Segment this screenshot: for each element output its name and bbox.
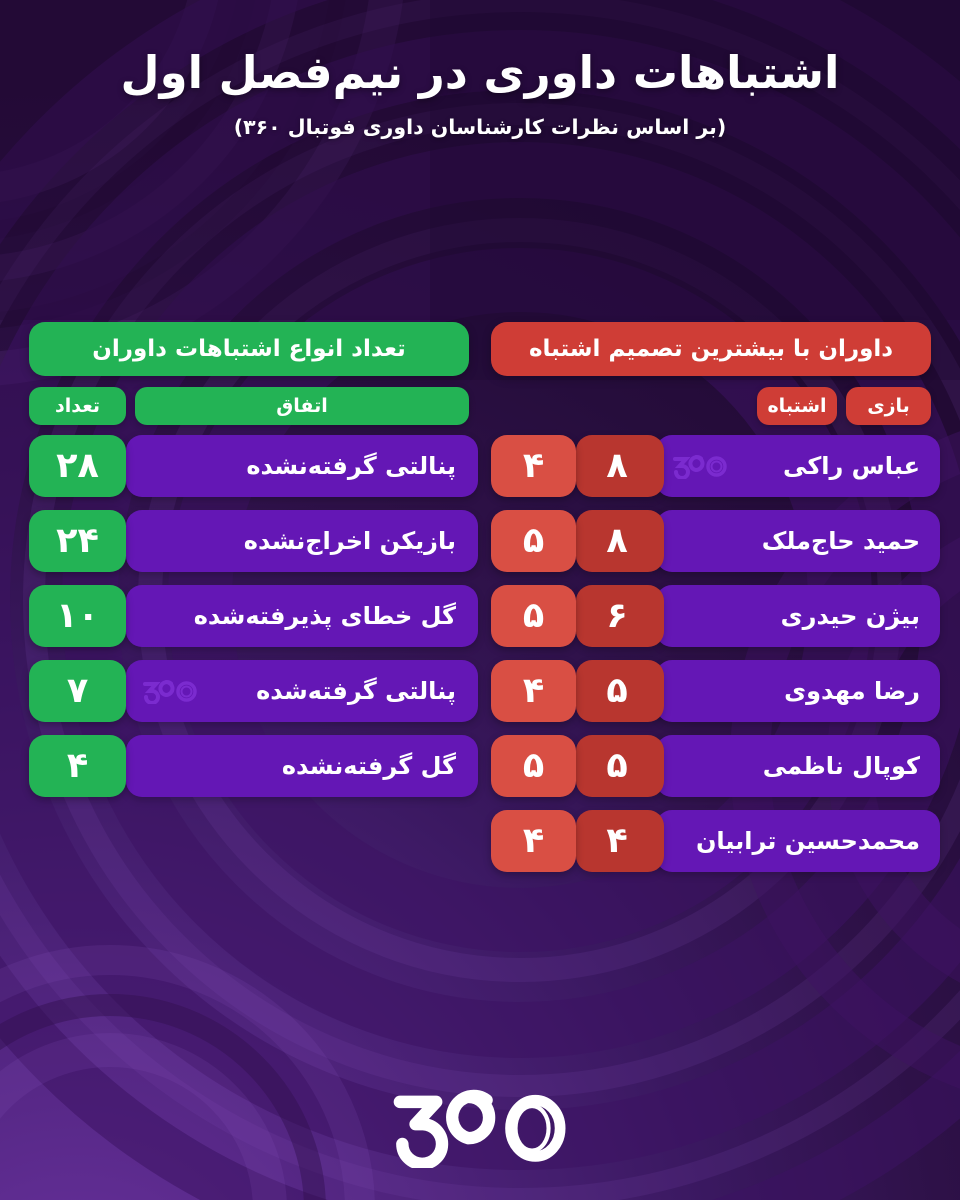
count-badge: ۷	[29, 660, 126, 722]
event-label: پنالتی گرفته‌شده	[126, 660, 478, 722]
event-label: پنالتی گرفته‌نشده	[126, 435, 478, 497]
event-label: گل گرفته‌نشده	[126, 735, 478, 797]
table-row[interactable]: ۵ ۵ کوپال ناظمی	[491, 735, 931, 797]
table-row[interactable]: ۱۰ گل خطای پذیرفته‌شده	[29, 585, 469, 647]
column-header-spacer	[491, 387, 748, 425]
table-row[interactable]: ۴ ۸ عباس راکی	[491, 435, 931, 497]
referee-name: محمدحسین ترابیان	[696, 827, 920, 855]
referee-name-cell: رضا مهدوی	[656, 660, 940, 722]
referees-heading: داوران با بیشترین تصمیم اشتباه	[491, 322, 931, 376]
games-badge: ۵	[491, 585, 576, 647]
table-row[interactable]: ۴ ۴ محمدحسین ترابیان	[491, 810, 931, 872]
column-header-count: تعداد	[29, 387, 126, 425]
errors-badge: ۴	[576, 810, 664, 872]
page-subtitle: (بر اساس نظرات کارشناسان داوری فوتبال ۳۶…	[0, 115, 960, 139]
referee-name: بیژن حیدری	[781, 602, 920, 630]
referee-name: کوپال ناظمی	[763, 752, 920, 780]
column-header-games: بازی	[846, 387, 931, 425]
table-row[interactable]: ۲۴ بازیکن اخراج‌نشده	[29, 510, 469, 572]
watermark-360-logo	[670, 453, 730, 479]
page-header: اشتباهات داوری در نیم‌فصل اول (بر اساس ن…	[0, 0, 960, 139]
errors-badge: ۵	[576, 660, 664, 722]
table-row[interactable]: ۴ گل گرفته‌نشده	[29, 735, 469, 797]
event-text: پنالتی گرفته‌شده	[256, 677, 456, 705]
footer-360-logo	[385, 1082, 575, 1168]
column-header-event: اتفاق	[135, 387, 469, 425]
event-text: گل گرفته‌نشده	[282, 752, 456, 780]
referees-column-headers: اشتباه بازی	[491, 387, 931, 425]
table-row[interactable]: ۲۸ پنالتی گرفته‌نشده	[29, 435, 469, 497]
referee-name: رضا مهدوی	[784, 677, 920, 705]
errors-badge: ۸	[576, 435, 664, 497]
page-title: اشتباهات داوری در نیم‌فصل اول	[0, 44, 960, 102]
tables-container: تعداد انواع اشتباهات داوران تعداد اتفاق …	[0, 322, 960, 892]
referee-name-cell: محمدحسین ترابیان	[656, 810, 940, 872]
referee-name-cell: حمید حاج‌ملک	[656, 510, 940, 572]
mistake-types-heading: تعداد انواع اشتباهات داوران	[29, 322, 469, 376]
event-label: بازیکن اخراج‌نشده	[126, 510, 478, 572]
event-text: بازیکن اخراج‌نشده	[244, 527, 456, 555]
errors-badge: ۵	[576, 735, 664, 797]
mistake-types-rows: ۲۸ پنالتی گرفته‌نشده ۲۴ بازیکن اخراج‌نشد…	[29, 435, 469, 797]
games-badge: ۵	[491, 735, 576, 797]
table-row[interactable]: ۷ پنالتی گرفته‌شده	[29, 660, 469, 722]
event-label: گل خطای پذیرفته‌شده	[126, 585, 478, 647]
mistake-types-panel: تعداد انواع اشتباهات داوران تعداد اتفاق …	[29, 322, 469, 892]
errors-badge: ۶	[576, 585, 664, 647]
count-badge: ۲۸	[29, 435, 126, 497]
referee-name-cell: بیژن حیدری	[656, 585, 940, 647]
mistake-types-column-headers: تعداد اتفاق	[29, 387, 469, 425]
games-badge: ۵	[491, 510, 576, 572]
referees-panel: داوران با بیشترین تصمیم اشتباه اشتباه با…	[491, 322, 931, 892]
table-row[interactable]: ۵ ۸ حمید حاج‌ملک	[491, 510, 931, 572]
event-text: پنالتی گرفته‌نشده	[246, 452, 456, 480]
table-row[interactable]: ۴ ۵ رضا مهدوی	[491, 660, 931, 722]
count-badge: ۱۰	[29, 585, 126, 647]
games-badge: ۴	[491, 810, 576, 872]
referees-rows: ۴ ۸ عباس راکی ۵ ۸	[491, 435, 931, 872]
games-badge: ۴	[491, 660, 576, 722]
referee-name-cell: کوپال ناظمی	[656, 735, 940, 797]
referee-name: حمید حاج‌ملک	[762, 527, 920, 555]
event-text: گل خطای پذیرفته‌شده	[194, 602, 456, 630]
errors-badge: ۸	[576, 510, 664, 572]
games-badge: ۴	[491, 435, 576, 497]
count-badge: ۴	[29, 735, 126, 797]
count-badge: ۲۴	[29, 510, 126, 572]
column-header-errors: اشتباه	[757, 387, 837, 425]
table-row[interactable]: ۵ ۶ بیژن حیدری	[491, 585, 931, 647]
referee-name-cell: عباس راکی	[656, 435, 940, 497]
referee-name: عباس راکی	[783, 452, 920, 480]
watermark-360-logo	[140, 678, 200, 704]
